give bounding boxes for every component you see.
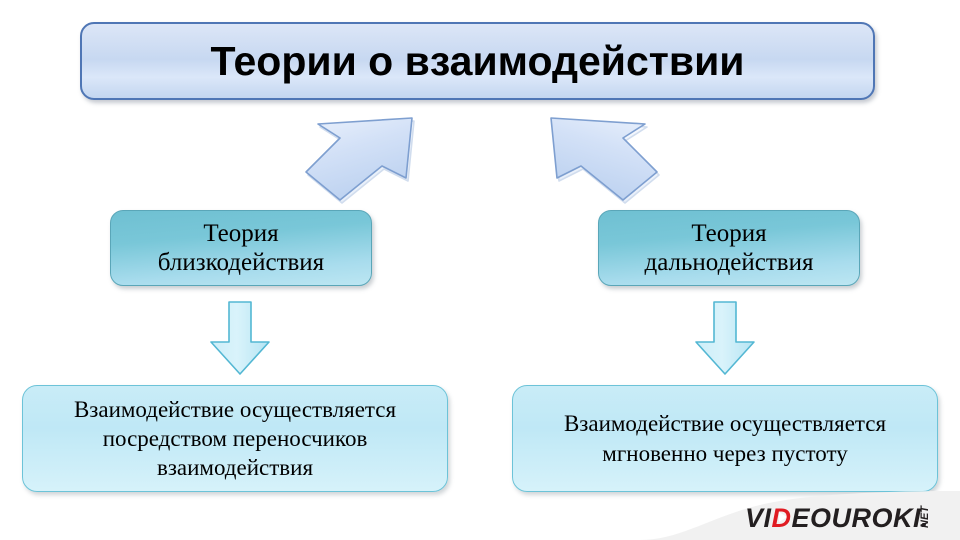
description-box-blizkodeystvie[interactable]: Взаимодействие осуществляется посредство… (22, 385, 448, 492)
theory-heading-line-1: Теория (691, 219, 766, 249)
logo-text-part1: VI (745, 503, 772, 534)
videouroki-logo: VI D EOUROKI. NET (745, 503, 951, 534)
page-title: Теории о взаимодействии (210, 38, 744, 85)
theory-heading-line-2: дальнодействия (645, 248, 814, 278)
description-line: Взаимодействие осуществляется (564, 409, 886, 438)
theory-heading-line-2: близкодействия (158, 248, 324, 278)
title-box: Теории о взаимодействии (80, 22, 875, 100)
description-line: взаимодействия (157, 453, 313, 482)
description-line: мгновенно через пустоту (602, 439, 847, 468)
description-line: Взаимодействие осуществляется (74, 395, 396, 424)
play-triangle-icon (779, 512, 787, 522)
arrow-down-right-icon (543, 112, 667, 212)
logo-tld: NET (919, 506, 931, 528)
theory-heading-line-1: Теория (203, 219, 278, 249)
theory-box-dalnodeystvie[interactable]: Теория дальнодействия (598, 210, 860, 286)
description-box-dalnodeystvie[interactable]: Взаимодействие осуществляется мгновенно … (512, 385, 938, 492)
arrow-down-right-branch-icon (688, 300, 762, 378)
slide-canvas: Теории о взаимодействии Теория близкодей (0, 0, 960, 540)
theory-box-blizkodeystvie[interactable]: Теория близкодействия (110, 210, 372, 286)
logo-text-part2: EOUROKI. (792, 503, 930, 534)
arrow-down-left-icon (296, 112, 420, 212)
description-line: посредством переносчиков (103, 424, 368, 453)
logo-play-badge-icon: D (772, 503, 792, 534)
arrow-down-left-branch-icon (203, 300, 277, 378)
